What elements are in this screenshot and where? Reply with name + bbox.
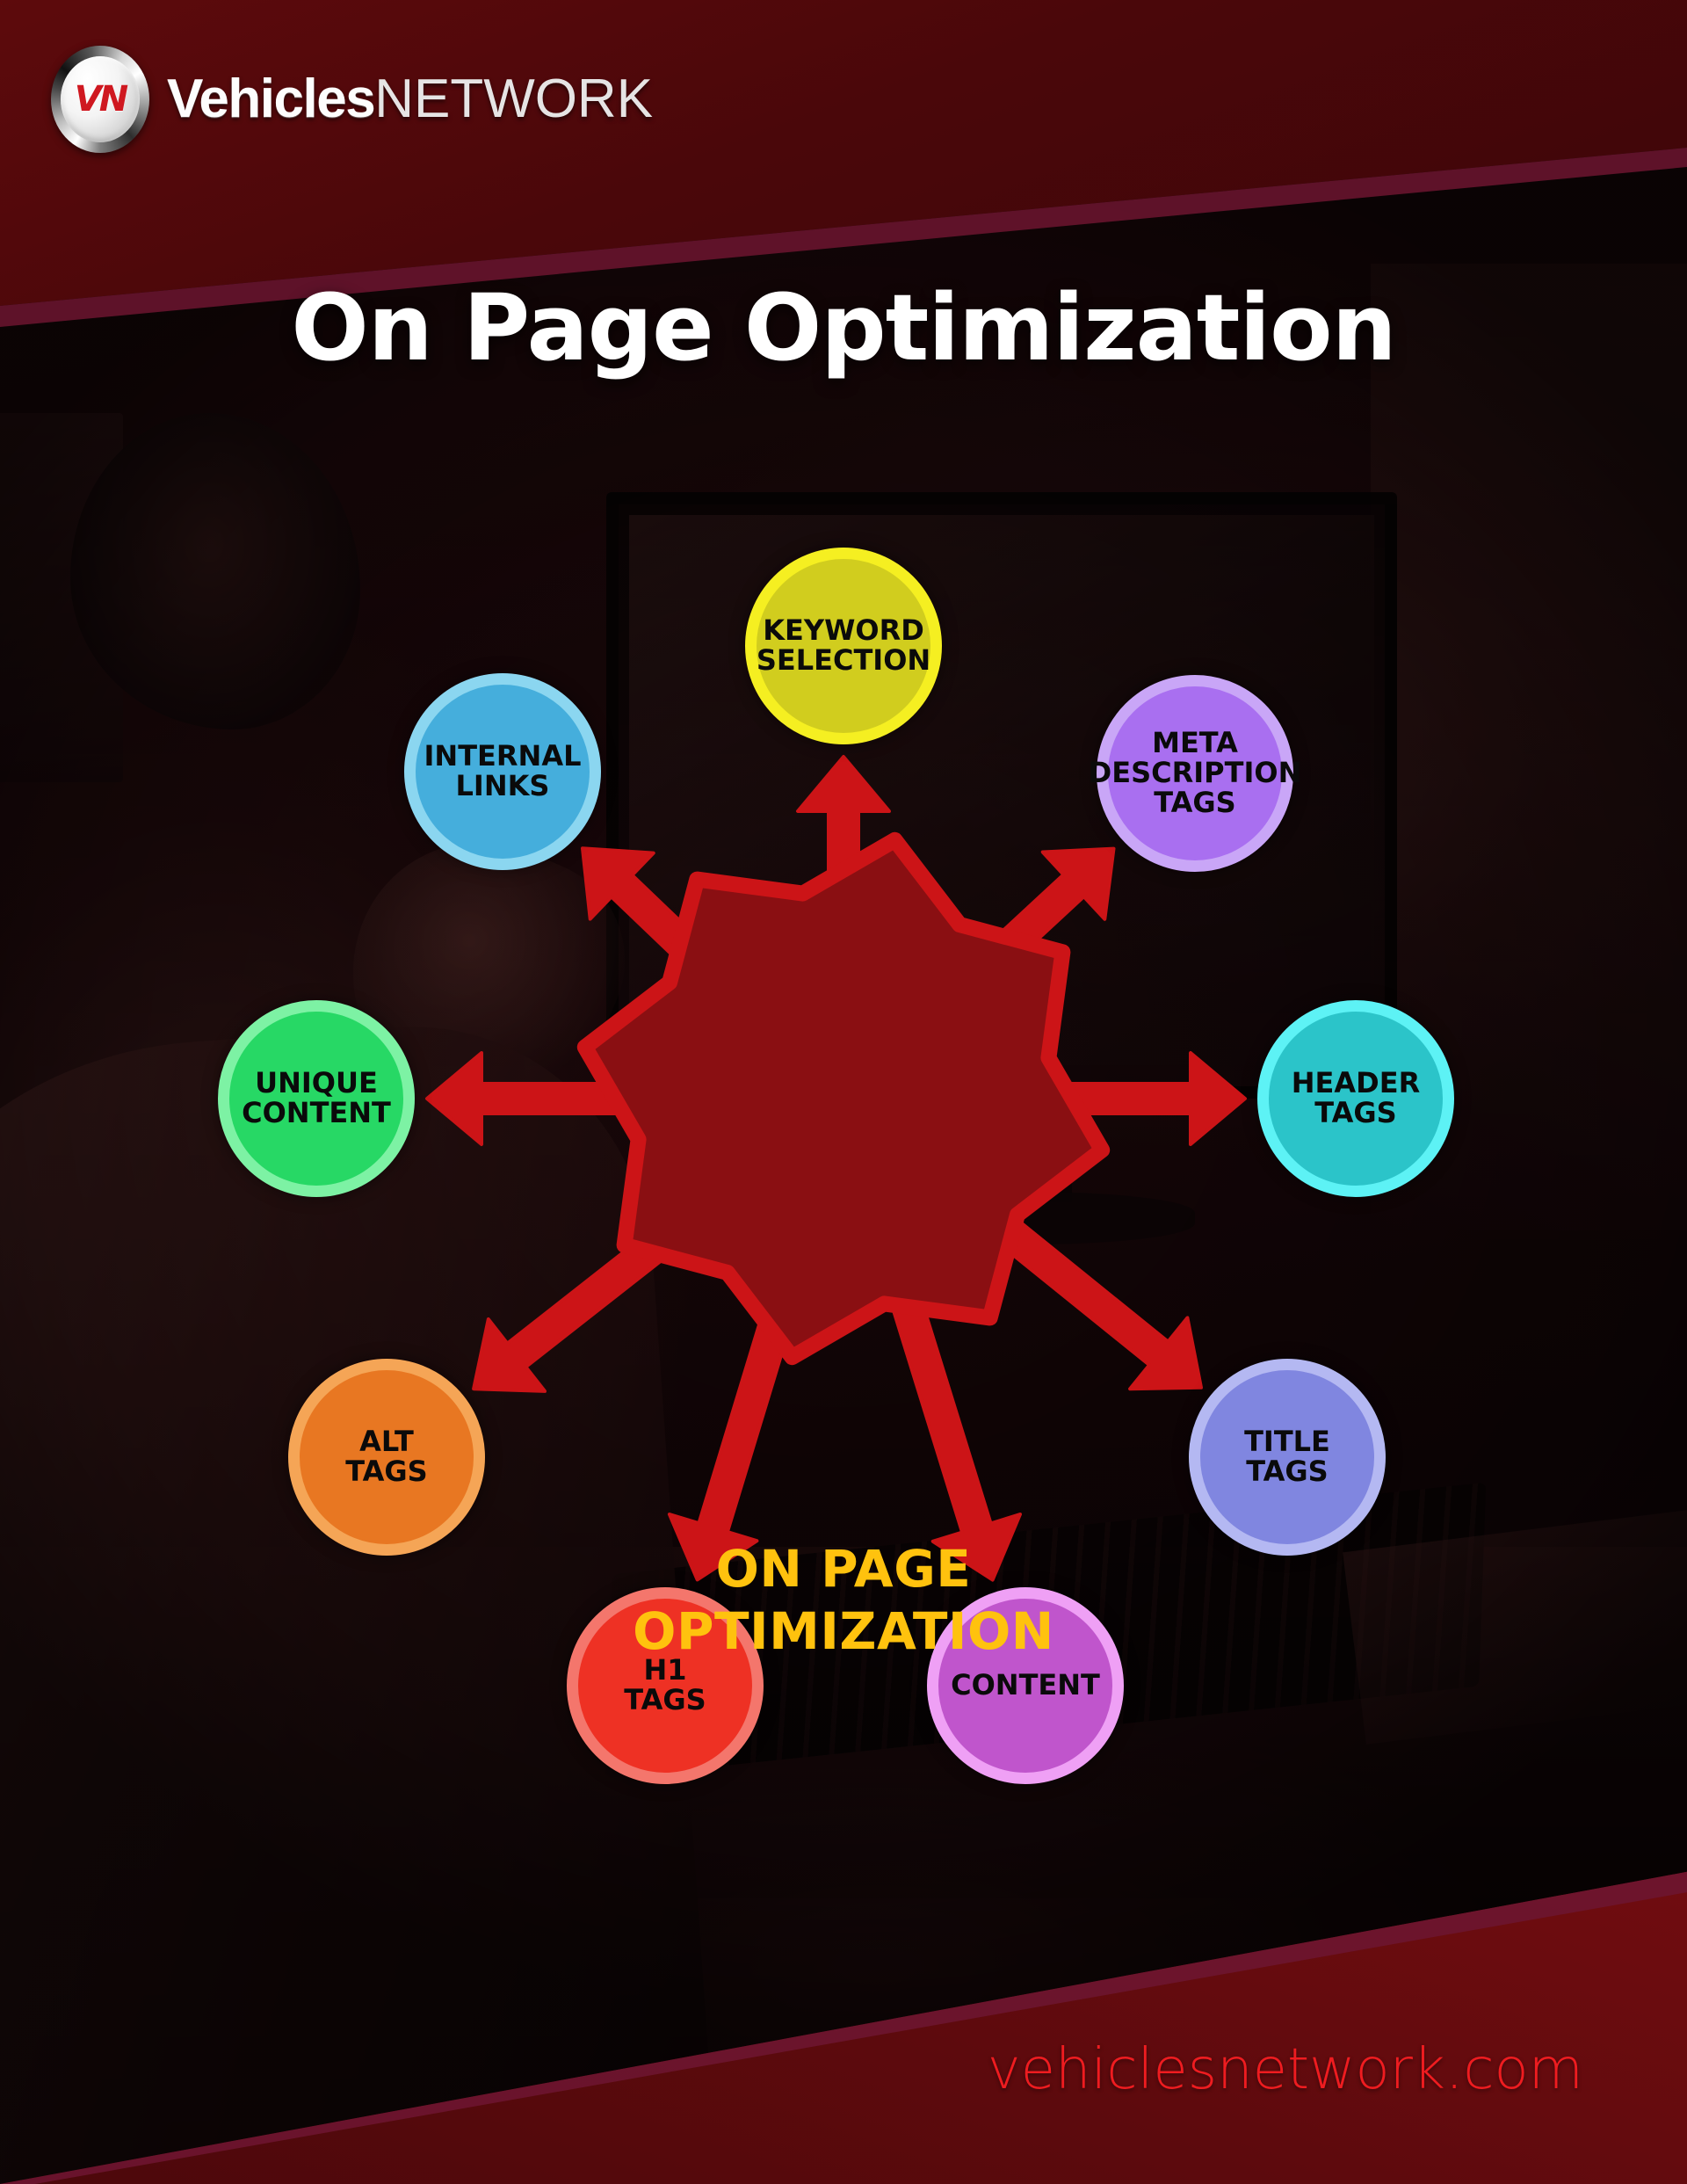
- node-label-line: TAGS: [340, 1457, 432, 1487]
- node-label: INTERNALLINKS: [419, 742, 587, 802]
- node-label-line: TAGS: [1286, 1099, 1425, 1128]
- radial-diagram: KEYWORDSELECTIONMETADESCRIPTIONTAGSHEADE…: [0, 492, 1687, 1863]
- node-label: HEADERTAGS: [1286, 1069, 1425, 1128]
- node-h1-tags[interactable]: H1TAGS: [567, 1587, 764, 1784]
- node-label-line: CONTENT: [236, 1099, 396, 1128]
- logo-badge-inner: VN: [61, 56, 140, 142]
- node-label-line: DESCRIPTION: [1083, 758, 1307, 788]
- node-alt-tags[interactable]: ALTTAGS: [288, 1359, 485, 1556]
- logo-monogram: VN: [75, 79, 126, 120]
- node-label-line: UNIQUE: [236, 1069, 396, 1099]
- node-keyword-selection[interactable]: KEYWORDSELECTION: [745, 548, 942, 744]
- brand-logo[interactable]: VN Vehicles NETWORK: [51, 46, 653, 153]
- node-label: TITLETAGS: [1239, 1427, 1336, 1487]
- node-meta-description-tags[interactable]: METADESCRIPTIONTAGS: [1097, 675, 1293, 872]
- node-label: UNIQUECONTENT: [236, 1069, 396, 1128]
- node-label-line: KEYWORD: [751, 616, 936, 646]
- node-label: ALTTAGS: [340, 1427, 432, 1487]
- node-unique-content[interactable]: UNIQUECONTENT: [218, 1000, 415, 1197]
- node-label: CONTENT: [945, 1671, 1105, 1701]
- node-label-line: H1: [619, 1656, 711, 1686]
- node-internal-links[interactable]: INTERNALLINKS: [404, 673, 601, 870]
- page-title: On Page Optimization: [0, 274, 1687, 381]
- logo-name-thin: NETWORK: [374, 72, 653, 127]
- node-label-line: SELECTION: [751, 646, 936, 676]
- infographic-poster: VN Vehicles NETWORK On Page Optimization…: [0, 0, 1687, 2184]
- node-label-line: TAGS: [619, 1686, 711, 1716]
- node-label: H1TAGS: [619, 1656, 711, 1716]
- node-label-line: META: [1083, 729, 1307, 758]
- node-label-line: TAGS: [1083, 788, 1307, 818]
- footer-website-url[interactable]: vehiclesnetwork.com: [988, 2037, 1583, 2102]
- logo-badge-icon: VN: [51, 46, 149, 153]
- node-label-line: TITLE: [1239, 1427, 1336, 1457]
- node-label-line: CONTENT: [945, 1671, 1105, 1701]
- logo-wordmark: Vehicles NETWORK: [167, 72, 653, 127]
- logo-name-bold: Vehicles: [167, 72, 374, 127]
- arrow-to-title-tags: [1003, 1224, 1201, 1389]
- node-label-line: LINKS: [419, 772, 587, 802]
- node-header-tags[interactable]: HEADERTAGS: [1257, 1000, 1454, 1197]
- node-label: KEYWORDSELECTION: [751, 616, 936, 676]
- node-title-tags[interactable]: TITLETAGS: [1189, 1359, 1386, 1556]
- node-label-line: HEADER: [1286, 1069, 1425, 1099]
- node-label-line: ALT: [340, 1427, 432, 1457]
- arrow-to-content: [894, 1302, 1020, 1580]
- node-content[interactable]: CONTENT: [927, 1587, 1124, 1784]
- node-label-line: TAGS: [1239, 1457, 1336, 1487]
- node-label: METADESCRIPTIONTAGS: [1083, 729, 1307, 818]
- node-label-line: INTERNAL: [419, 742, 587, 772]
